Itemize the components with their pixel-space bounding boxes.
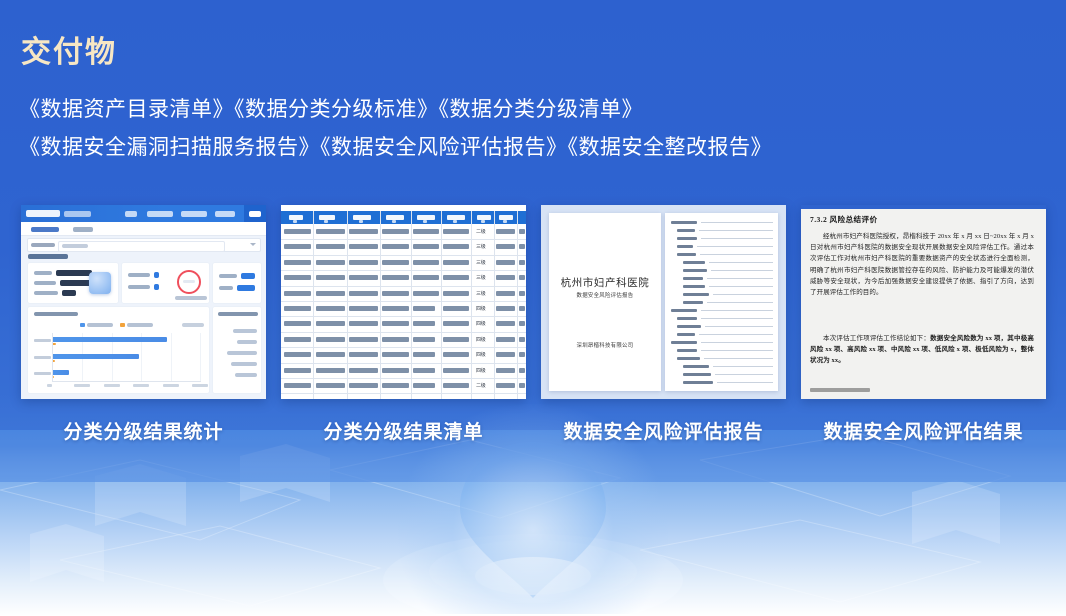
deliverable-line-2: 《数据安全漏洞扫描服务报告》《数据安全风险评估报告》《数据安全整改报告》 [19,131,772,161]
subtab-1[interactable] [31,227,59,232]
document-cover-publisher: 深圳昂楷科技有限公司 [549,341,661,349]
toc-entry [677,317,697,320]
card-classification-statistics[interactable] [21,205,266,399]
report-paragraph-2: 本次评估工作项评估工作结论如下：数据安全风险数为 xx 项，其中极高风险 xx … [810,333,1034,367]
table-row[interactable]: 三级 [281,239,526,255]
dashboard-screenshot [21,205,266,399]
bar-sensitive-2 [53,376,54,378]
table-row[interactable]: 四级 [281,301,526,317]
filter-label [31,243,55,247]
slide-root: 交付物 《数据资产目录清单》《数据分类分级标准》《数据分类分级清单》 《数据安全… [0,0,1066,616]
toc-entry [677,325,701,328]
nav-item-active[interactable] [244,205,266,222]
toc-entry [677,357,700,360]
deliverable-line-1: 《数据资产目录清单》《数据分类分级标准》《数据分类分级清单》 [19,93,643,123]
column-header[interactable] [353,215,371,220]
toc-entry [683,301,703,304]
dashboard-logo [26,210,60,217]
toc-entry [683,373,711,376]
bar-sensitive-4 [53,343,56,345]
report-heading: 7.3.2 风险总结评价 [810,214,877,225]
document-cover-subtitle: 数据安全风险评估报告 [549,291,661,299]
nav-item-2[interactable] [147,211,173,217]
report-paragraph-2-lead: 本次评估工作项评估工作结论如下： [823,335,930,342]
toc-entry [677,245,693,248]
toc-entry [671,221,697,224]
dashboard-navbar [21,205,266,222]
card-risk-assessment-report[interactable]: 杭州市妇产科医院 数据安全风险评估报告 深圳昂楷科技有限公司 [541,205,786,399]
document-spread-screenshot: 杭州市妇产科医院 数据安全风险评估报告 深圳昂楷科技有限公司 [541,205,786,399]
dashboard-product-name [64,211,91,217]
toc-entry [677,333,695,336]
level-value: 四级 [476,320,486,327]
toc-entry [671,341,697,344]
document-toc-page [665,213,778,391]
table-header-row [281,211,526,224]
table-row[interactable]: 三级 [281,255,526,271]
table-row[interactable]: 四级 [281,316,526,332]
toc-entry [683,269,707,272]
toc-entry [683,293,709,296]
toc-entry [677,253,696,256]
chart-title [34,312,78,316]
level-value: 二级 [476,382,486,389]
bar-level-2 [53,370,69,375]
list-item [227,351,257,355]
dashboard-subtabs [21,222,266,236]
table-row[interactable]: 三级 [281,286,526,302]
bar-chart-panel [27,306,210,394]
bar-level-4 [53,337,167,342]
caption-risk-assessment-result: 数据安全风险评估结果 [801,417,1046,444]
stat-card-volume [27,262,119,304]
level-value: 四级 [476,351,486,358]
document-cover-title: 杭州市妇产科医院 [549,275,661,290]
column-header[interactable] [289,215,303,220]
filter-select[interactable] [58,241,225,252]
level-value: 四级 [476,367,486,374]
toc-entry [683,381,713,384]
caption-classification-list: 分类分级结果清单 [281,417,526,444]
section-title [28,254,68,259]
stat-card-counts [212,262,262,304]
level-value: 三级 [476,274,486,281]
nav-item-1[interactable] [125,211,137,217]
card-row: 二级 三级 三级 [0,205,1066,400]
page-title: 交付物 [21,38,117,68]
data-cube-icon [89,272,111,294]
side-list-panel [212,306,262,394]
column-header[interactable] [386,215,404,220]
report-top-band [801,205,1046,209]
toc-entry [677,237,697,240]
toc-entry [677,349,697,352]
level-value: 四级 [476,336,486,343]
caption-risk-assessment-report: 数据安全风险评估报告 [541,417,786,444]
table-row[interactable]: 四级 [281,347,526,363]
subtab-2[interactable] [73,227,93,232]
column-header[interactable] [319,215,335,220]
toc-entry [677,229,695,232]
coverage-gauge [177,270,201,294]
list-item [233,329,257,333]
dashboard-filter-bar[interactable] [27,238,261,252]
level-value: 四级 [476,305,486,312]
nav-item-4[interactable] [215,211,235,217]
gauge-label [175,296,207,300]
column-header[interactable] [447,215,465,220]
column-header[interactable] [417,215,435,220]
column-header[interactable] [499,215,513,220]
report-next-heading [810,388,870,392]
chevron-down-icon [250,243,256,246]
table-row[interactable]: 三级 [281,270,526,286]
spreadsheet-screenshot: 二级 三级 三级 [281,205,526,399]
toc-entry [671,309,697,312]
toc-entry [683,365,709,368]
card-classification-list[interactable]: 二级 三级 三级 [281,205,526,399]
column-header[interactable] [477,215,491,220]
table-row[interactable]: 四级 [281,332,526,348]
list-item [237,340,257,344]
toc-entry [683,285,705,288]
toc-entry [683,277,703,280]
list-item [231,362,257,366]
chart-plot-area [52,333,201,382]
table-row[interactable]: 四级 [281,363,526,379]
chart-unit-label [182,323,204,327]
level-value: 二级 [476,228,486,235]
stat-card-sources [121,262,210,304]
report-text-screenshot: 7.3.2 风险总结评价 经杭州市妇产科医院授权，昂楷科技于 20xx 年 x … [801,205,1046,399]
bar-sensitive-3 [53,360,55,362]
card-risk-assessment-result[interactable]: 7.3.2 风险总结评价 经杭州市妇产科医院授权，昂楷科技于 20xx 年 x … [801,205,1046,399]
bar-level-3 [53,354,139,359]
list-item [235,373,257,377]
caption-classification-statistics: 分类分级结果统计 [21,417,266,444]
level-value: 三级 [476,290,486,297]
level-value: 三级 [476,243,486,250]
nav-item-3[interactable] [181,211,207,217]
report-paragraph-1: 经杭州市妇产科医院授权，昂楷科技于 20xx 年 x 月 xx 日~20xx 年… [810,231,1034,298]
table-row[interactable]: 二级 [281,378,526,394]
level-value: 三级 [476,259,486,266]
document-cover-page: 杭州市妇产科医院 数据安全风险评估报告 深圳昂楷科技有限公司 [549,213,661,391]
side-list-title [218,312,258,316]
table-row[interactable]: 二级 [281,224,526,240]
toc-entry [683,261,705,264]
